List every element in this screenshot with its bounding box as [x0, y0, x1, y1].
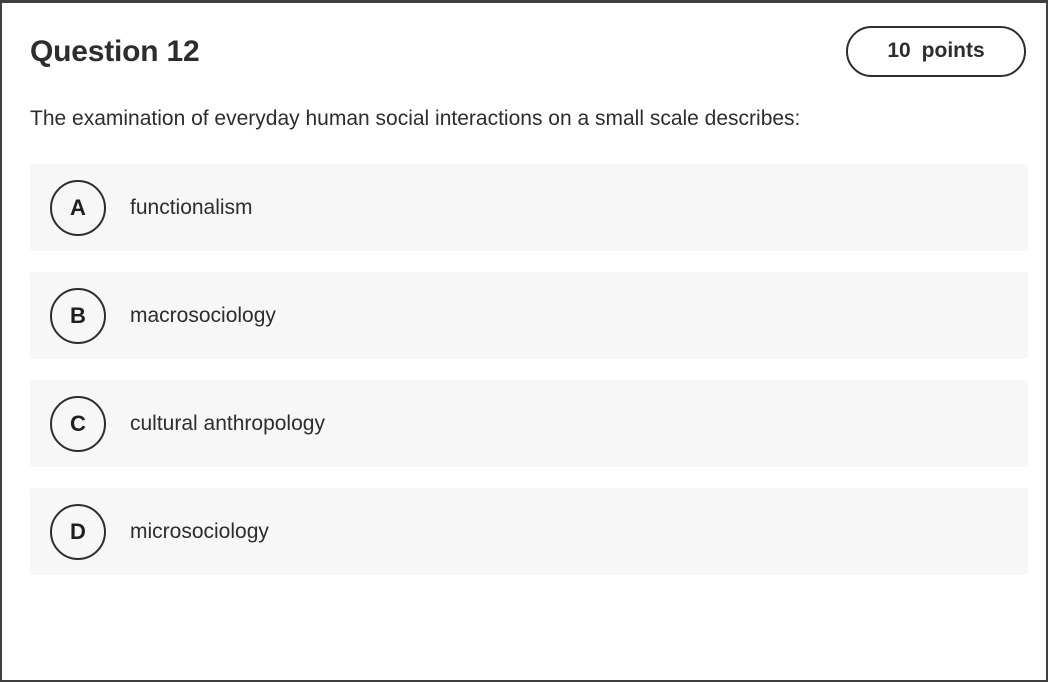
- option-label-c: cultural anthropology: [130, 410, 325, 437]
- option-label-d: microsociology: [130, 518, 269, 545]
- question-prompt-text: The examination of everyday human social…: [30, 103, 975, 134]
- option-letter-badge-d: D: [50, 504, 106, 560]
- option-label-a: functionalism: [130, 194, 253, 221]
- question-body: The examination of everyday human social…: [2, 77, 1046, 134]
- points-label: points: [922, 39, 985, 63]
- answer-option-b[interactable]: B macrosociology: [30, 272, 1028, 359]
- answer-option-d[interactable]: D microsociology: [30, 488, 1028, 575]
- answer-option-a[interactable]: A functionalism: [30, 164, 1028, 251]
- answer-options-list: A functionalism B macrosociology C cultu…: [2, 164, 1046, 575]
- answer-option-c[interactable]: C cultural anthropology: [30, 380, 1028, 467]
- option-label-b: macrosociology: [130, 302, 276, 329]
- option-letter-badge-a: A: [50, 180, 106, 236]
- option-letter-badge-b: B: [50, 288, 106, 344]
- page-title: Question 12: [30, 35, 200, 68]
- question-header: Question 12 10 points: [2, 3, 1046, 77]
- points-value: 10: [887, 39, 910, 63]
- points-badge: 10 points: [846, 26, 1026, 77]
- question-card: Question 12 10 points The examination of…: [0, 0, 1048, 682]
- option-letter-badge-c: C: [50, 396, 106, 452]
